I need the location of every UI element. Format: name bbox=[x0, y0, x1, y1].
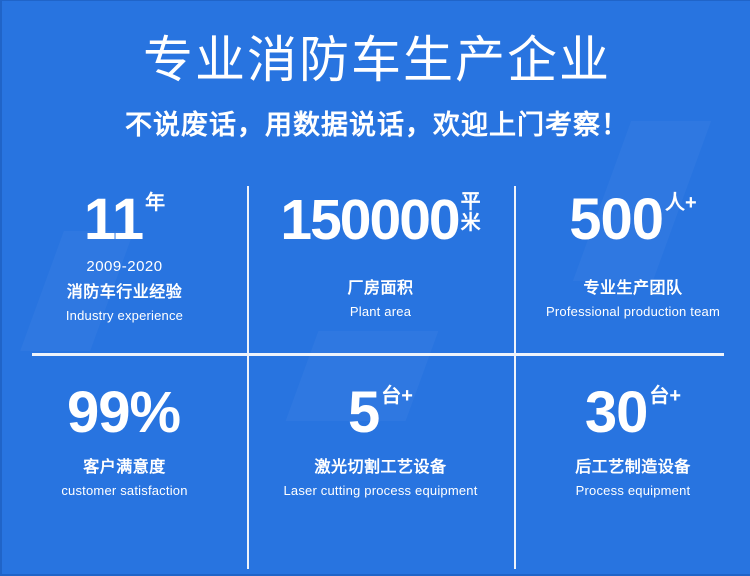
stat-unit: 人+ bbox=[665, 193, 697, 214]
stat-value-row: 30 台+ bbox=[585, 384, 681, 442]
stat-cell-customer-satisfaction: 99% 客户满意度 customer satisfaction bbox=[2, 354, 247, 559]
stat-unit: 台+ bbox=[381, 386, 413, 407]
stat-label-cn: 专业生产团队 bbox=[583, 279, 682, 299]
stat-cell-process-equipment: 30 台+ 后工艺制造设备 Process equipment bbox=[514, 354, 750, 559]
stat-label-en: Process equipment bbox=[576, 482, 691, 499]
stat-label-cn: 消防车行业经验 bbox=[67, 283, 183, 303]
stat-cell-laser-cutting-equipment: 5 台+ 激光切割工艺设备 Laser cutting process equi… bbox=[247, 354, 514, 559]
stat-cell-plant-area: 150000 平 米 厂房面积 Plant area bbox=[247, 169, 514, 354]
page-subtitle: 不说废话，用数据说话，欢迎上门考察！ bbox=[2, 105, 750, 145]
stat-unit: 年 bbox=[145, 193, 165, 214]
stat-cell-production-team: 500 人+ 专业生产团队 Professional production te… bbox=[514, 169, 750, 354]
stat-value-row: 99% bbox=[67, 384, 182, 442]
stat-label-en: Laser cutting process equipment bbox=[283, 482, 477, 499]
stat-value: 99% bbox=[67, 384, 180, 442]
stat-year-range: 2009-2020 bbox=[86, 258, 162, 276]
stat-value: 30 bbox=[585, 384, 648, 442]
stat-value: 5 bbox=[348, 384, 379, 442]
stat-value-row: 150000 平 米 bbox=[280, 191, 480, 249]
stat-value-row: 5 台+ bbox=[348, 384, 413, 442]
stat-label-cn: 后工艺制造设备 bbox=[575, 458, 691, 478]
stat-value: 500 bbox=[569, 191, 663, 249]
stat-unit-line-2: 米 bbox=[461, 213, 481, 234]
stat-value-row: 500 人+ bbox=[569, 191, 696, 249]
stat-label-cn: 客户满意度 bbox=[83, 458, 166, 478]
stat-value-row: 11 年 bbox=[84, 191, 165, 249]
stat-value: 11 bbox=[84, 191, 143, 249]
stat-label-cn: 厂房面积 bbox=[347, 279, 413, 299]
page-title: 专业消防车生产企业 bbox=[2, 29, 750, 91]
promotional-banner: 专业消防车生产企业 不说废话，用数据说话，欢迎上门考察！ 11 年 2009-2… bbox=[0, 0, 750, 576]
stat-unit-line-1: 平 bbox=[461, 192, 481, 213]
stat-value: 150000 bbox=[280, 191, 458, 249]
stat-label-cn: 激光切割工艺设备 bbox=[314, 458, 446, 478]
stat-label-en: Plant area bbox=[350, 303, 411, 320]
stats-grid: 11 年 2009-2020 消防车行业经验 Industry experien… bbox=[2, 169, 750, 559]
stat-label-en: Industry experience bbox=[66, 307, 183, 324]
stat-label-en: Professional production team bbox=[546, 303, 720, 320]
stat-unit: 平 米 bbox=[461, 192, 481, 234]
stat-label-en: customer satisfaction bbox=[61, 482, 187, 499]
stat-unit: 台+ bbox=[649, 386, 681, 407]
stat-cell-industry-experience: 11 年 2009-2020 消防车行业经验 Industry experien… bbox=[2, 169, 247, 354]
